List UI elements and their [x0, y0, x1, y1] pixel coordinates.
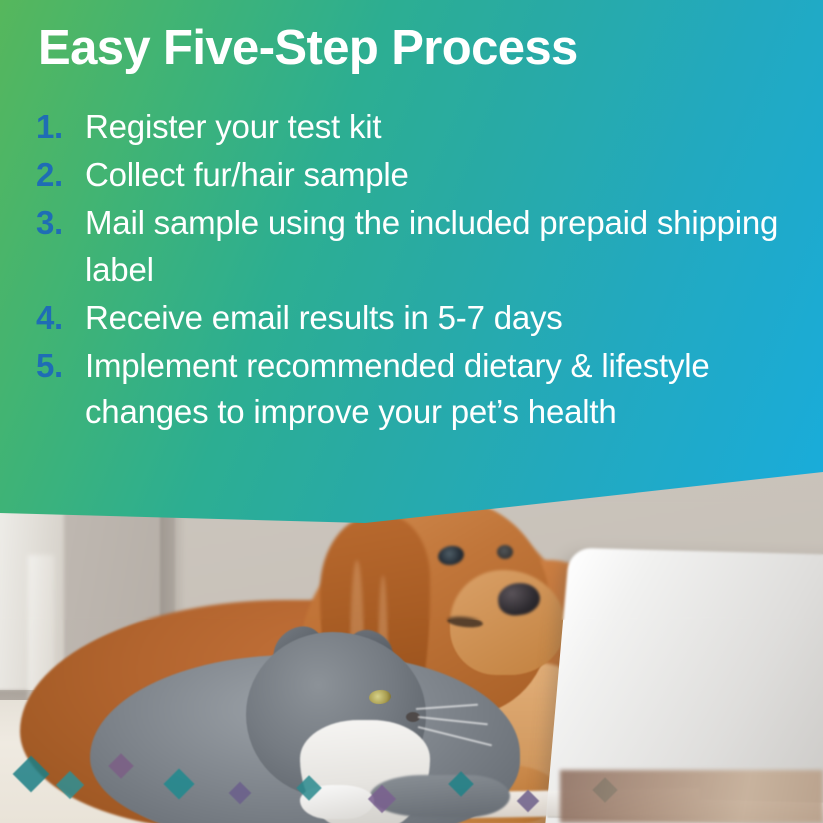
step-number: 3.	[36, 200, 85, 246]
page-title: Easy Five-Step Process	[38, 23, 578, 74]
step-text: Mail sample using the included prepaid s…	[85, 200, 823, 292]
list-item: 3. Mail sample using the included prepai…	[0, 200, 823, 292]
step-text: Register your test kit	[85, 104, 823, 150]
dog-eye-far	[497, 545, 513, 559]
list-item: 2. Collect fur/hair sample	[0, 152, 823, 198]
promo-graphic: Easy Five-Step Process 1. Register your …	[0, 0, 823, 823]
step-text: Receive email results in 5-7 days	[85, 295, 823, 341]
step-text: Implement recommended dietary & lifestyl…	[85, 343, 823, 435]
step-number: 5.	[36, 343, 85, 389]
list-item: 1. Register your test kit	[0, 104, 823, 150]
steps-list: 1. Register your test kit 2. Collect fur…	[0, 104, 823, 437]
step-number: 4.	[36, 295, 85, 341]
step-number: 2.	[36, 152, 85, 198]
step-number: 1.	[36, 104, 85, 150]
step-text: Collect fur/hair sample	[85, 152, 823, 198]
list-item: 4. Receive email results in 5-7 days	[0, 295, 823, 341]
carpet	[560, 770, 823, 823]
list-item: 5. Implement recommended dietary & lifes…	[0, 343, 823, 435]
